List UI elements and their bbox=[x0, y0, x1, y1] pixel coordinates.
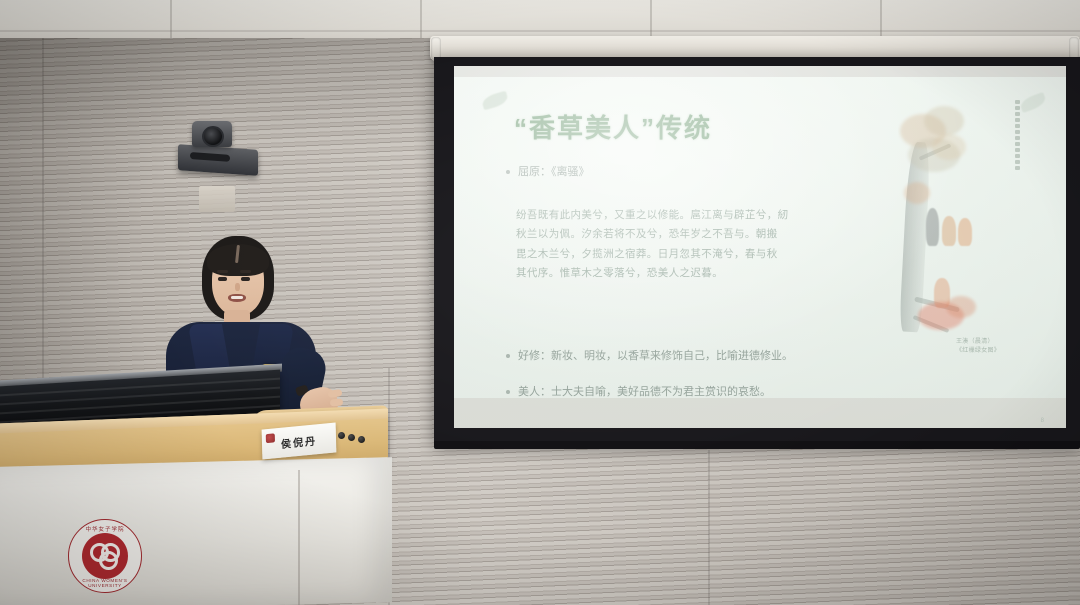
quote-line: 其代序。惟草木之零落兮，恐美人之迟暮。 bbox=[516, 264, 846, 283]
eyebrow bbox=[240, 270, 251, 273]
podium-front-panel bbox=[0, 457, 392, 605]
slide-top-band bbox=[454, 66, 1066, 77]
eye bbox=[218, 277, 227, 281]
eyebrow bbox=[217, 270, 228, 273]
slide-source-text: 屈原：《离骚》 bbox=[518, 164, 590, 181]
slide-bullet: 美人：士大夫自喻，美好品德不为君主赏识的哀愁。 bbox=[506, 384, 851, 401]
slide-page-number: 8 bbox=[1041, 418, 1044, 424]
podium-knob[interactable] bbox=[338, 432, 345, 439]
lecture-hall-photo: “香草美人”传统 屈原：《离骚》 纷吾既有此内美兮，又重之以修能。扈江离与辟芷兮… bbox=[0, 0, 1080, 605]
painting-figure bbox=[958, 218, 972, 246]
university-emblem: 中华女子学院 CHINA WOMEN'S UNIVERSITY bbox=[68, 519, 142, 593]
name-card-text: 侯倪丹 bbox=[281, 431, 317, 450]
slide-bullet-text: 好修：新妆、明妆，以香草来修饰自己，比喻进德修业。 bbox=[518, 348, 793, 365]
painting-caption-line: 《红樔绿女图》 bbox=[956, 347, 1042, 356]
painting-figure bbox=[942, 216, 956, 246]
podium-panel-seam bbox=[298, 470, 300, 605]
eye bbox=[241, 277, 250, 281]
quote-line: 秋兰以为佩。汐余若将不及兮，恐年岁之不吾与。朝搬 bbox=[516, 225, 846, 244]
emblem-knot-icon bbox=[90, 543, 120, 570]
camera-lens-icon bbox=[202, 126, 224, 147]
leaf-icon bbox=[481, 91, 510, 111]
chinese-painting-illustration: 王湊（晨清） 《红樔绿女图》 bbox=[898, 90, 1048, 372]
bullet-dot-icon bbox=[506, 170, 510, 174]
slide-bottom-band bbox=[454, 398, 1066, 428]
nose bbox=[235, 283, 240, 291]
podium-knob[interactable] bbox=[358, 436, 365, 443]
projection-screen: “香草美人”传统 屈原：《离骚》 纷吾既有此内美兮，又重之以修能。扈江离与辟芷兮… bbox=[434, 57, 1080, 442]
quote-line: 毘之木兰兮，夕揽洲之宿莽。日月忽其不淹兮，春与秋 bbox=[516, 245, 846, 264]
slide-quote: 纷吾既有此内美兮，又重之以修能。扈江离与辟芷兮，紉 秋兰以为佩。汐余若将不及兮，… bbox=[516, 206, 846, 284]
slide-source-bullet: 屈原：《离骚》 bbox=[506, 164, 806, 181]
painting-inscription bbox=[1012, 100, 1022, 186]
emblem-top-text: 中华女子学院 bbox=[69, 525, 141, 533]
camera-mount-bracket bbox=[178, 144, 258, 176]
emblem-bottom-text: CHINA WOMEN'S UNIVERSITY bbox=[69, 578, 141, 588]
painting-caption: 王湊（晨清） 《红樔绿女图》 bbox=[956, 338, 1042, 356]
bullet-dot-icon bbox=[506, 390, 510, 394]
wall-plate bbox=[199, 186, 235, 212]
quote-line: 纷吾既有此内美兮，又重之以修能。扈江离与辟芷兮，紉 bbox=[516, 206, 846, 225]
bullet-dot-icon bbox=[506, 354, 510, 358]
presentation-slide: “香草美人”传统 屈原：《离骚》 纷吾既有此内美兮，又重之以修能。扈江离与辟芷兮… bbox=[454, 66, 1066, 428]
mouth bbox=[228, 294, 246, 302]
slide-bullet: 好修：新妆、明妆，以香草来修饰自己，比喻进德修业。 bbox=[506, 348, 836, 365]
painting-caption-line: 王湊（晨清） bbox=[956, 338, 1042, 347]
painting-figure bbox=[926, 208, 939, 246]
slide-bullet-text: 美人：士大夫自喻，美好品德不为君主赏识的哀愁。 bbox=[518, 384, 771, 401]
podium-knob[interactable] bbox=[348, 434, 355, 441]
